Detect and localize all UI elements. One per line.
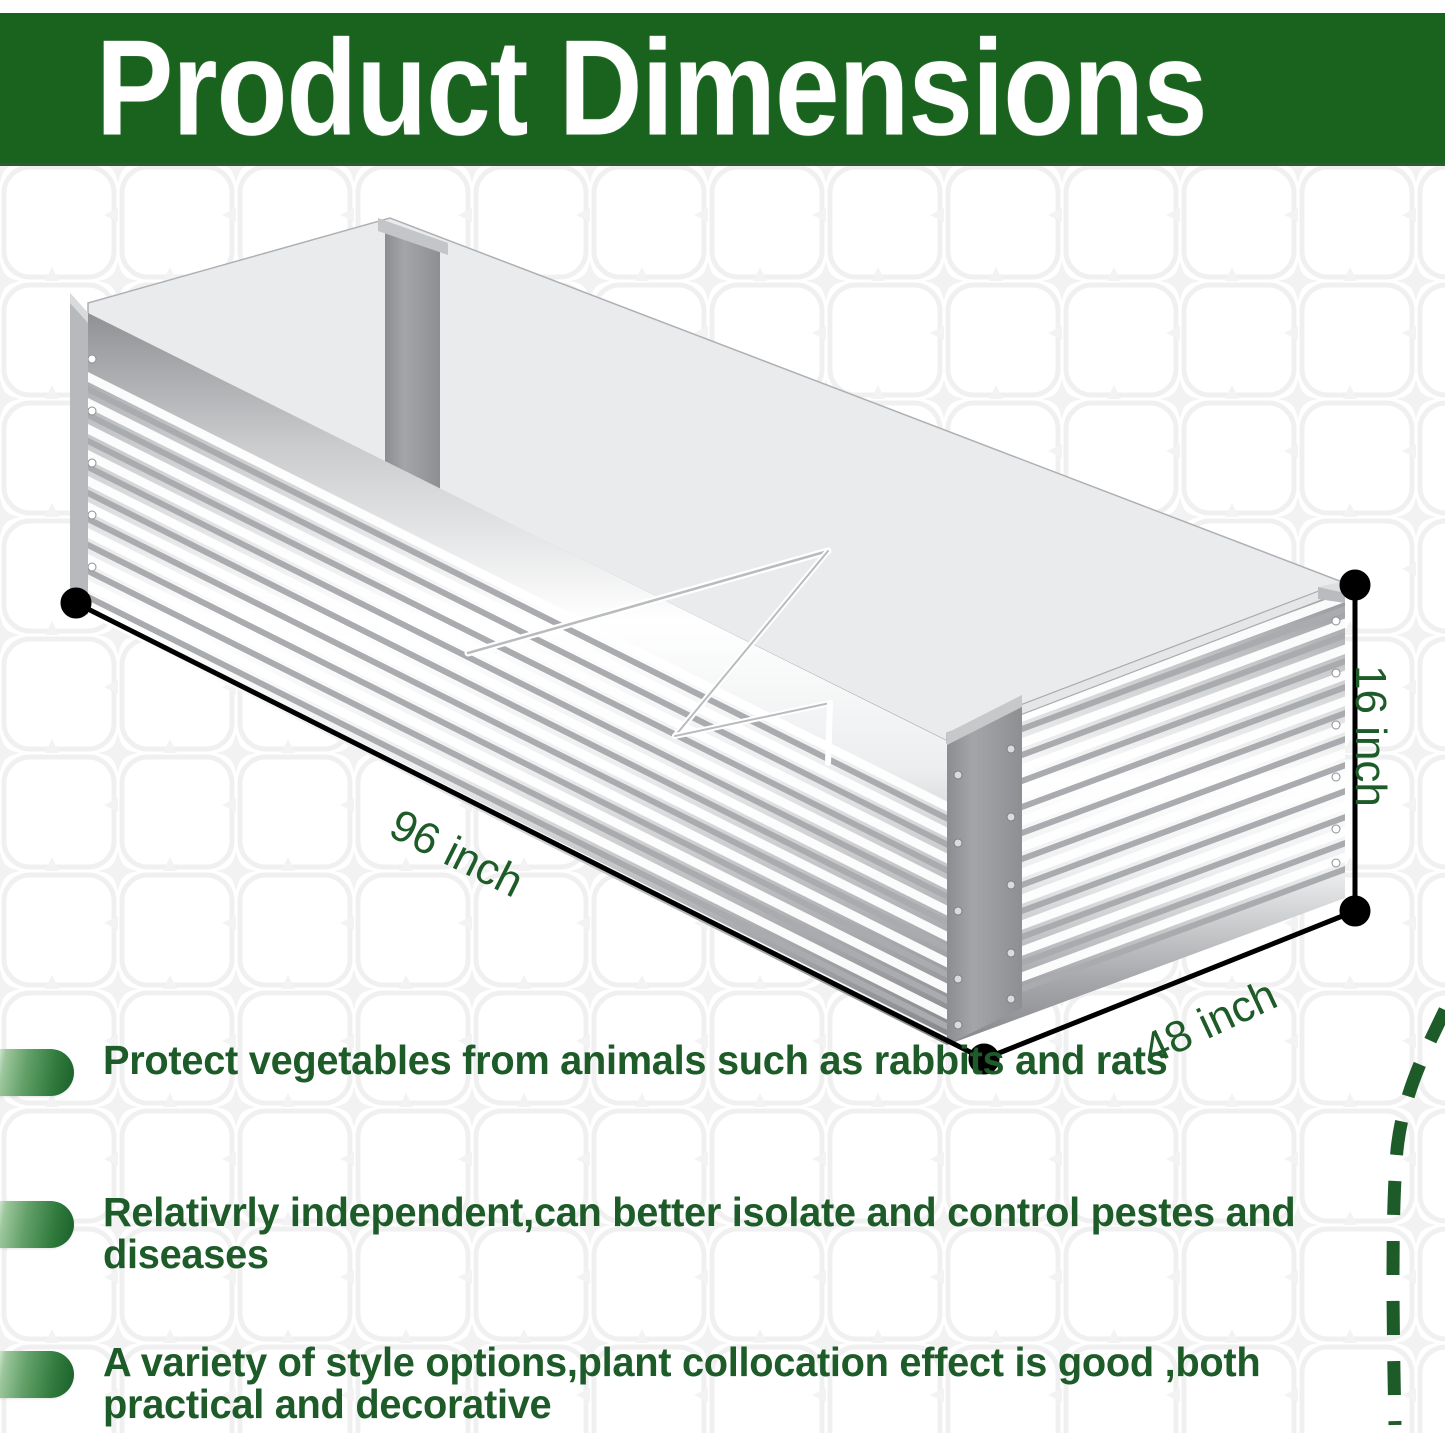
dimension-label-height: 16 inch [1345, 665, 1395, 807]
page-title: Product Dimensions [96, 20, 1207, 156]
feature-text: Relativrly independent,can better isolat… [103, 1192, 1354, 1276]
feature-text: Protect vegetables from animals such as … [103, 1040, 1168, 1082]
feature-text: A variety of style options,plant colloca… [103, 1342, 1354, 1426]
corner-bracket-front [947, 695, 1022, 1045]
feature-item: Relativrly independent,can better isolat… [0, 1192, 1400, 1276]
bullet-marker-icon [0, 1201, 74, 1248]
bullet-marker-icon [0, 1351, 74, 1398]
feature-item: Protect vegetables from animals such as … [0, 1040, 1400, 1096]
features-list: Protect vegetables from animals such as … [0, 1020, 1445, 1433]
bullet-marker-icon [0, 1049, 74, 1096]
header-banner: Product Dimensions [0, 13, 1445, 166]
feature-item: A variety of style options,plant colloca… [0, 1342, 1400, 1426]
product-illustration [0, 163, 1445, 1078]
bed-left-end-face [70, 293, 88, 615]
